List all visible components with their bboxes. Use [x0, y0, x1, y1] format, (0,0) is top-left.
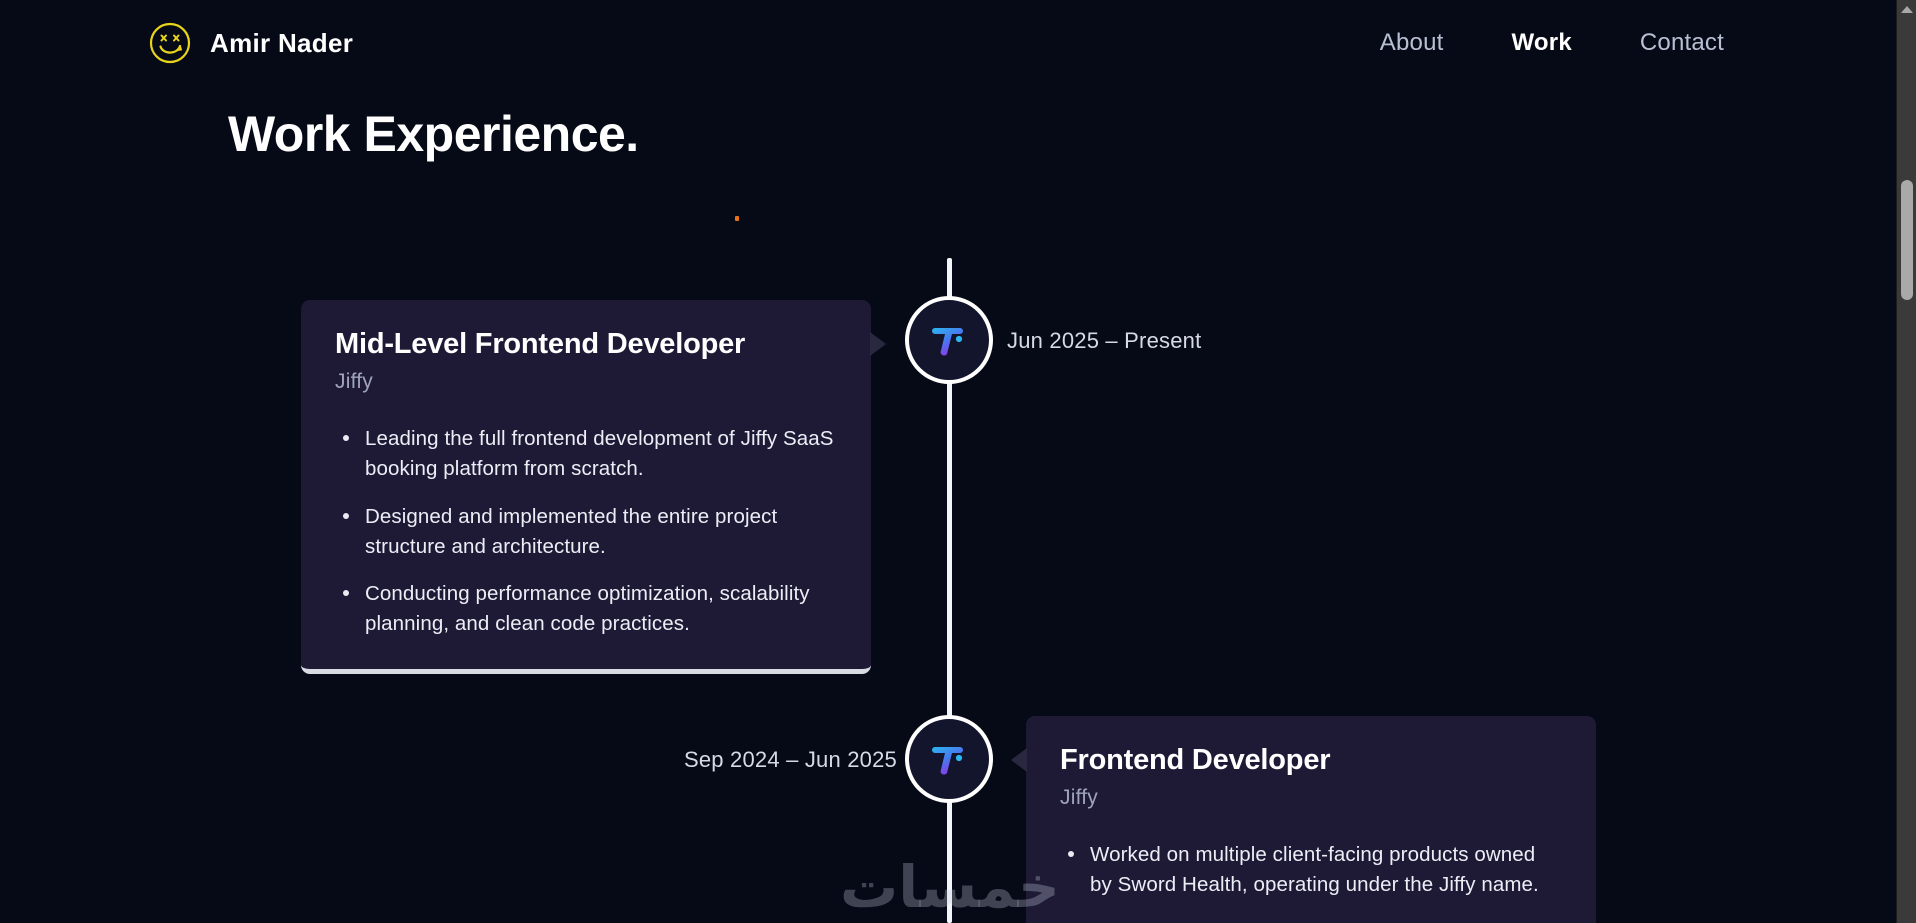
timeline-date-label: Jun 2025 – Present — [1007, 328, 1201, 354]
nav-item-about[interactable]: About — [1380, 29, 1444, 57]
smiley-face-x-eyes-icon — [148, 21, 192, 65]
nav-item-contact[interactable]: Contact — [1640, 29, 1724, 57]
experience-bullet-list: Worked on multiple client-facing product… — [1060, 840, 1562, 900]
experience-role: Frontend Developer — [1060, 744, 1562, 777]
card-pointer-arrow-icon — [1011, 748, 1027, 772]
jiffy-t-logo-icon — [926, 736, 972, 782]
triangle-up-icon[interactable] — [1901, 6, 1913, 13]
experience-company: Jiffy — [1060, 786, 1562, 810]
card-pointer-arrow-icon — [870, 332, 886, 356]
list-item: Leading the full frontend development of… — [335, 424, 837, 484]
site-header: Amir Nader About Work Contact — [0, 0, 1896, 86]
brand[interactable]: Amir Nader — [148, 21, 353, 65]
experience-card: Frontend Developer Jiffy Worked on multi… — [1026, 716, 1596, 923]
jiffy-t-logo-icon — [926, 317, 972, 363]
experience-role: Mid-Level Frontend Developer — [335, 328, 837, 361]
experience-card: Mid-Level Frontend Developer Jiffy Leadi… — [301, 300, 871, 674]
experience-bullet-list: Leading the full frontend development of… — [335, 424, 837, 639]
list-item: Worked on multiple client-facing product… — [1060, 840, 1562, 900]
vertical-scrollbar[interactable] — [1896, 0, 1916, 923]
page-title: Work Experience. — [228, 105, 639, 163]
brand-name: Amir Nader — [210, 28, 353, 59]
experience-company: Jiffy — [335, 370, 837, 394]
timeline-node[interactable] — [905, 296, 993, 384]
main-nav: About Work Contact — [1380, 29, 1836, 57]
list-item: Conducting performance optimization, sca… — [335, 579, 837, 639]
scrollbar-thumb[interactable] — [1901, 180, 1913, 300]
timeline-node[interactable] — [905, 715, 993, 803]
timeline-date-label: Sep 2024 – Jun 2025 — [684, 747, 897, 773]
nav-item-work[interactable]: Work — [1512, 29, 1572, 57]
work-experience-page: Amir Nader About Work Contact Work Exper… — [0, 0, 1916, 923]
decorative-spark-dot — [735, 216, 739, 221]
list-item: Designed and implemented the entire proj… — [335, 502, 837, 562]
